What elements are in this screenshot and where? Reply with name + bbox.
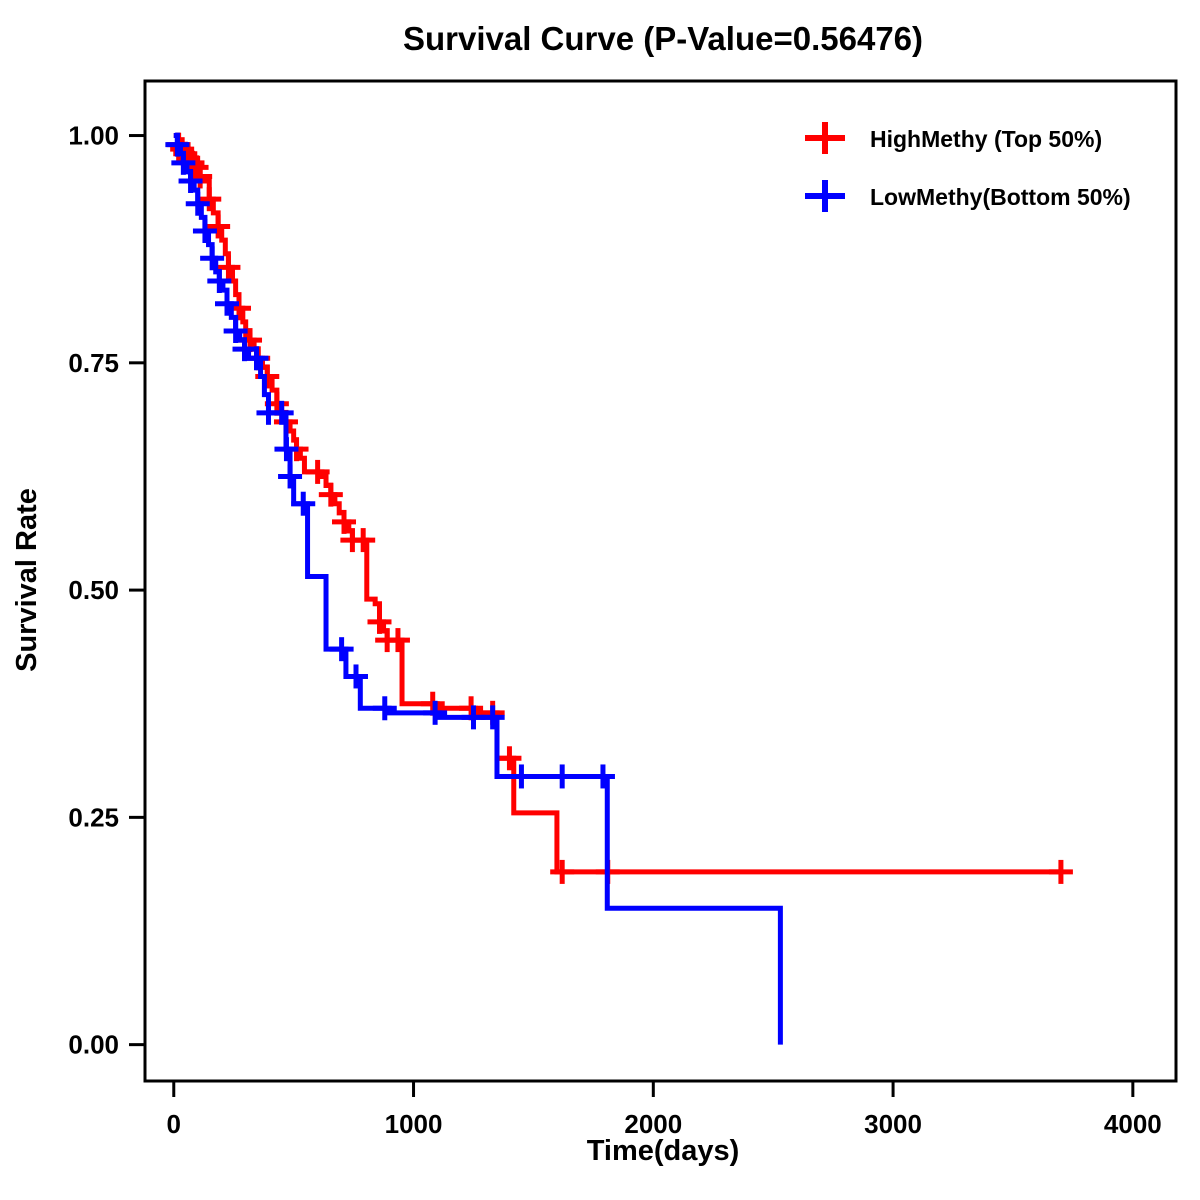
- x-tick-label: 1000: [385, 1109, 443, 1139]
- survival-curve-figure: Survival Curve (P-Value=0.56476) 0.000.2…: [0, 0, 1200, 1200]
- legend-label: LowMethy(Bottom 50%): [870, 184, 1131, 210]
- y-tick-label: 0.50: [68, 575, 119, 605]
- legend-label: HighMethy (Top 50%): [870, 126, 1102, 152]
- y-tick-label: 0.25: [68, 802, 119, 832]
- plot-canvas: Survival Curve (P-Value=0.56476) 0.000.2…: [0, 0, 1200, 1200]
- x-tick-label: 4000: [1104, 1109, 1162, 1139]
- page-title: Survival Curve (P-Value=0.56476): [403, 20, 923, 57]
- x-tick-label: 0: [167, 1109, 181, 1139]
- x-axis-label: Time(days): [587, 1135, 740, 1167]
- y-tick-label: 0.00: [68, 1030, 119, 1060]
- y-tick-label: 1.00: [68, 121, 119, 151]
- y-tick-label: 0.75: [68, 348, 119, 378]
- x-tick-label: 3000: [864, 1109, 922, 1139]
- y-axis-label: Survival Rate: [11, 488, 43, 672]
